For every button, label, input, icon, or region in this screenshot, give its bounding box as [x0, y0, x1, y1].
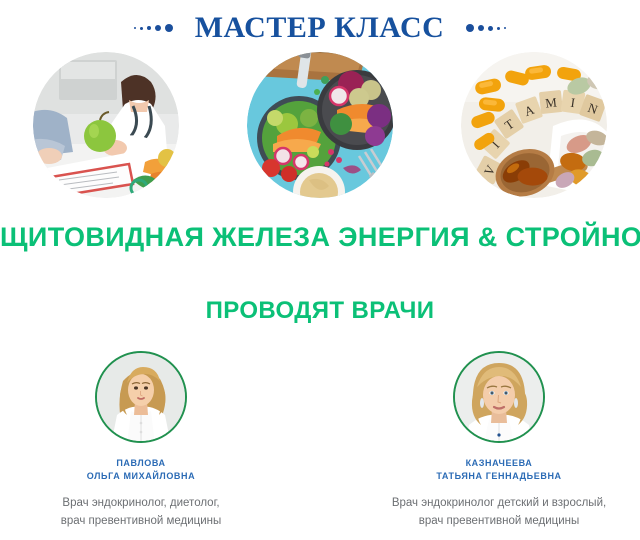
doctor-card-kaznacheeva: КАЗНАЧЕЕВА ТАТЬЯНА ГЕННАДЬЕВНА Врач эндо… — [394, 351, 604, 531]
doctor-surname: ПАВЛОВА — [87, 457, 195, 470]
presenters-heading: ПРОВОДЯТ ВРАЧИ — [0, 297, 640, 325]
photo-vegetable-bowls — [247, 52, 393, 198]
doctors-row: ПАВЛОВА ОЛЬГА МИХАЙЛОВНА Врач эндокринол… — [0, 351, 640, 531]
doctor-description-pavlova: Врач эндокринолог, диетолог, врач превен… — [61, 495, 222, 531]
doctor-desc-line-1: Врач эндокринолог детский и взрослый, — [392, 495, 606, 513]
decorative-dots-left-icon — [134, 24, 173, 32]
doctor-given-name: ОЛЬГА МИХАЙЛОВНА — [87, 470, 195, 483]
photo-doctor-consultation — [33, 52, 179, 198]
svg-text:M: M — [545, 94, 559, 110]
doctor-given-name: ТАТЬЯНА ГЕННАДЬЕВНА — [436, 470, 561, 483]
doctor-desc-line-1: Врач эндокринолог, диетолог, — [61, 495, 222, 513]
doctor-desc-line-2: врач превентивной медицины — [61, 513, 222, 531]
doctor-name-kaznacheeva: КАЗНАЧЕЕВА ТАТЬЯНА ГЕННАДЬЕВНА — [436, 457, 561, 483]
doctor-photo-pavlova — [95, 351, 187, 443]
doctor-surname: КАЗНАЧЕЕВА — [436, 457, 561, 470]
doctor-card-pavlova: ПАВЛОВА ОЛЬГА МИХАЙЛОВНА Врач эндокринол… — [36, 351, 246, 531]
doctor-name-pavlova: ПАВЛОВА ОЛЬГА МИХАЙЛОВНА — [87, 457, 195, 483]
doctor-description-kaznacheeva: Врач эндокринолог детский и взрослый, вр… — [392, 495, 606, 531]
page-title: МАСТЕР КЛАСС — [195, 13, 445, 43]
main-headline: ЩИТОВИДНАЯ ЖЕЛЕЗА ЭНЕРГИЯ & СТРОЙНОСТЬ — [0, 222, 640, 253]
page-header: МАСТЕР КЛАСС — [0, 0, 640, 46]
doctor-desc-line-2: врач превентивной медицины — [392, 513, 606, 531]
doctor-photo-kaznacheeva — [453, 351, 545, 443]
photo-vitamins: V I T A M — [461, 52, 607, 198]
decorative-dots-right-icon — [466, 24, 506, 32]
hero-image-row: V I T A M — [0, 52, 640, 198]
